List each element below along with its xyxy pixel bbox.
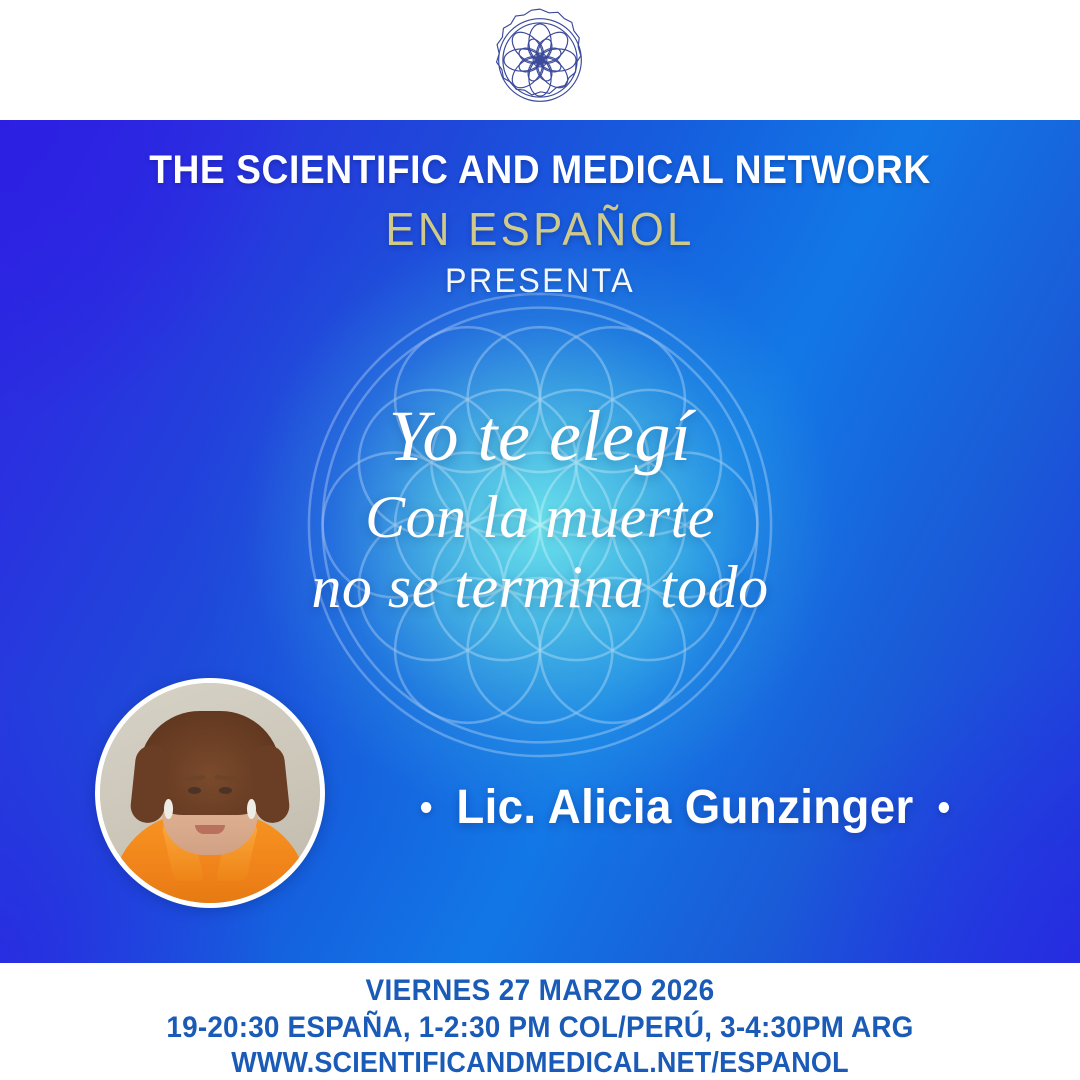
language-subtitle: EN ESPAÑOL [27,202,1053,256]
portrait-mouth [195,825,225,834]
event-times: 19-20:30 ESPAÑA, 1-2:30 PM COL/PERÚ, 3-4… [38,1010,1042,1047]
speaker-line: Lic. Alicia Gunzinger [348,780,1023,835]
network-title: THE SCIENTIFIC AND MEDICAL NETWORK [38,148,1042,193]
event-poster: THE SCIENTIFIC AND MEDICAL NETWORK EN ES… [0,0,1080,1080]
event-website[interactable]: WWW.SCIENTIFICANDMEDICAL.NET/ESPANOL [38,1046,1042,1080]
title-line-3: no se termina todo [0,554,1080,621]
bullet-dot-left-icon [421,802,431,813]
footer-details: VIERNES 27 MARZO 2026 19-20:30 ESPAÑA, 1… [0,963,1080,1080]
portrait-earring-right [247,799,256,819]
speaker-name: Lic. Alicia Gunzinger [456,780,913,835]
portrait-eye-right [219,787,232,794]
portrait-eye-left [188,787,201,794]
logo-bar [0,0,1080,120]
bullet-dot-right-icon [938,802,948,813]
portrait-earring-left [164,799,173,819]
portrait-hair [139,711,281,815]
presents-label: PRESENTA [27,262,1053,301]
event-date: VIERNES 27 MARZO 2026 [38,973,1042,1010]
event-title: Yo te elegí Con la muerte no se termina … [0,398,1080,621]
gradient-panel: THE SCIENTIFIC AND MEDICAL NETWORK EN ES… [0,120,1080,963]
flower-of-life-mandala-logo [487,7,593,113]
speaker-portrait [95,678,325,908]
title-line-1: Yo te elegí [0,398,1080,474]
title-line-2: Con la muerte [0,484,1080,551]
